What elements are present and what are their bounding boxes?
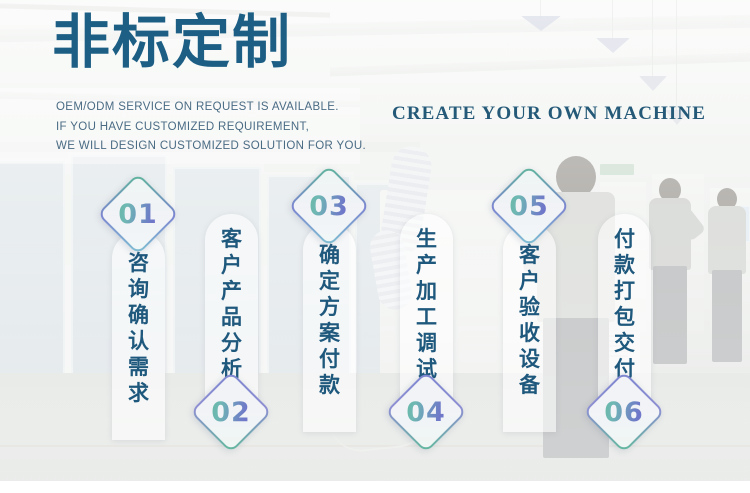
step-label-char: 案 bbox=[303, 320, 356, 346]
step-label-char: 包 bbox=[598, 304, 651, 330]
step-label-text: 确定方案付款 bbox=[303, 242, 356, 398]
step-label: 客户验收设备 bbox=[503, 242, 556, 398]
step-label-char: 户 bbox=[205, 252, 258, 278]
step-label-char: 付 bbox=[598, 226, 651, 252]
step-label-char: 工 bbox=[400, 304, 453, 330]
step-number-badge: 05 bbox=[500, 177, 558, 235]
step-label-char: 认 bbox=[112, 328, 165, 354]
step-pill: 咨询确认需求 bbox=[112, 232, 165, 440]
step-label-char: 求 bbox=[112, 380, 165, 406]
step-label-char: 确 bbox=[303, 242, 356, 268]
step-number: 02 bbox=[202, 383, 260, 441]
bottom-white-strip bbox=[0, 481, 750, 493]
step-label-char: 调 bbox=[400, 330, 453, 356]
step-label-char: 验 bbox=[503, 294, 556, 320]
step-label: 生产加工调试 bbox=[400, 226, 453, 382]
step-number-badge: 03 bbox=[300, 177, 358, 235]
step-label-char: 品 bbox=[205, 304, 258, 330]
step-label: 付款打包交付 bbox=[598, 226, 651, 382]
step-label-text: 生产加工调试 bbox=[400, 226, 453, 382]
step-label-char: 分 bbox=[205, 330, 258, 356]
step-label-char: 确 bbox=[112, 302, 165, 328]
step-label-char: 询 bbox=[112, 276, 165, 302]
step-number-badge: 04 bbox=[397, 383, 455, 441]
step-label-char: 需 bbox=[112, 354, 165, 380]
step-label-char: 打 bbox=[598, 278, 651, 304]
step-label-char: 付 bbox=[303, 346, 356, 372]
step-number: 06 bbox=[595, 383, 653, 441]
step-number-badge: 02 bbox=[202, 383, 260, 441]
step-label-text: 咨询确认需求 bbox=[112, 250, 165, 406]
step-label-char: 收 bbox=[503, 320, 556, 346]
step-number-badge: 06 bbox=[595, 383, 653, 441]
step-number-badge: 01 bbox=[109, 185, 167, 243]
step-label-text: 客户产品分析 bbox=[205, 226, 258, 382]
step-label-char: 客 bbox=[503, 242, 556, 268]
step-label-char: 加 bbox=[400, 278, 453, 304]
promo-banner: 非标定制 OEM/ODM SERVICE ON REQUEST IS AVAIL… bbox=[0, 0, 750, 493]
process-steps: 咨询确认需求 01 客户产品分析 02 确定 bbox=[0, 0, 750, 493]
step-label-char: 户 bbox=[503, 268, 556, 294]
step-label-char: 方 bbox=[303, 294, 356, 320]
step-label-char: 客 bbox=[205, 226, 258, 252]
step-label-text: 付款打包交付 bbox=[598, 226, 651, 382]
step-number: 04 bbox=[397, 383, 455, 441]
step-label-text: 客户验收设备 bbox=[503, 242, 556, 398]
step-label-char: 生 bbox=[400, 226, 453, 252]
step-label-char: 定 bbox=[303, 268, 356, 294]
step-label-char: 备 bbox=[503, 372, 556, 398]
step-label-char: 咨 bbox=[112, 250, 165, 276]
step-pill: 客户验收设备 bbox=[503, 224, 556, 432]
step-number: 03 bbox=[300, 177, 358, 235]
step-label-char: 交 bbox=[598, 330, 651, 356]
step-label: 确定方案付款 bbox=[303, 242, 356, 398]
step-label: 咨询确认需求 bbox=[112, 250, 165, 406]
step-label-char: 产 bbox=[205, 278, 258, 304]
step-number: 01 bbox=[109, 185, 167, 243]
step-label-char: 设 bbox=[503, 346, 556, 372]
step-label-char: 款 bbox=[598, 252, 651, 278]
step-label-char: 款 bbox=[303, 372, 356, 398]
step-number: 05 bbox=[500, 177, 558, 235]
step-label-char: 产 bbox=[400, 252, 453, 278]
step-label: 客户产品分析 bbox=[205, 226, 258, 382]
step-pill: 确定方案付款 bbox=[303, 224, 356, 432]
